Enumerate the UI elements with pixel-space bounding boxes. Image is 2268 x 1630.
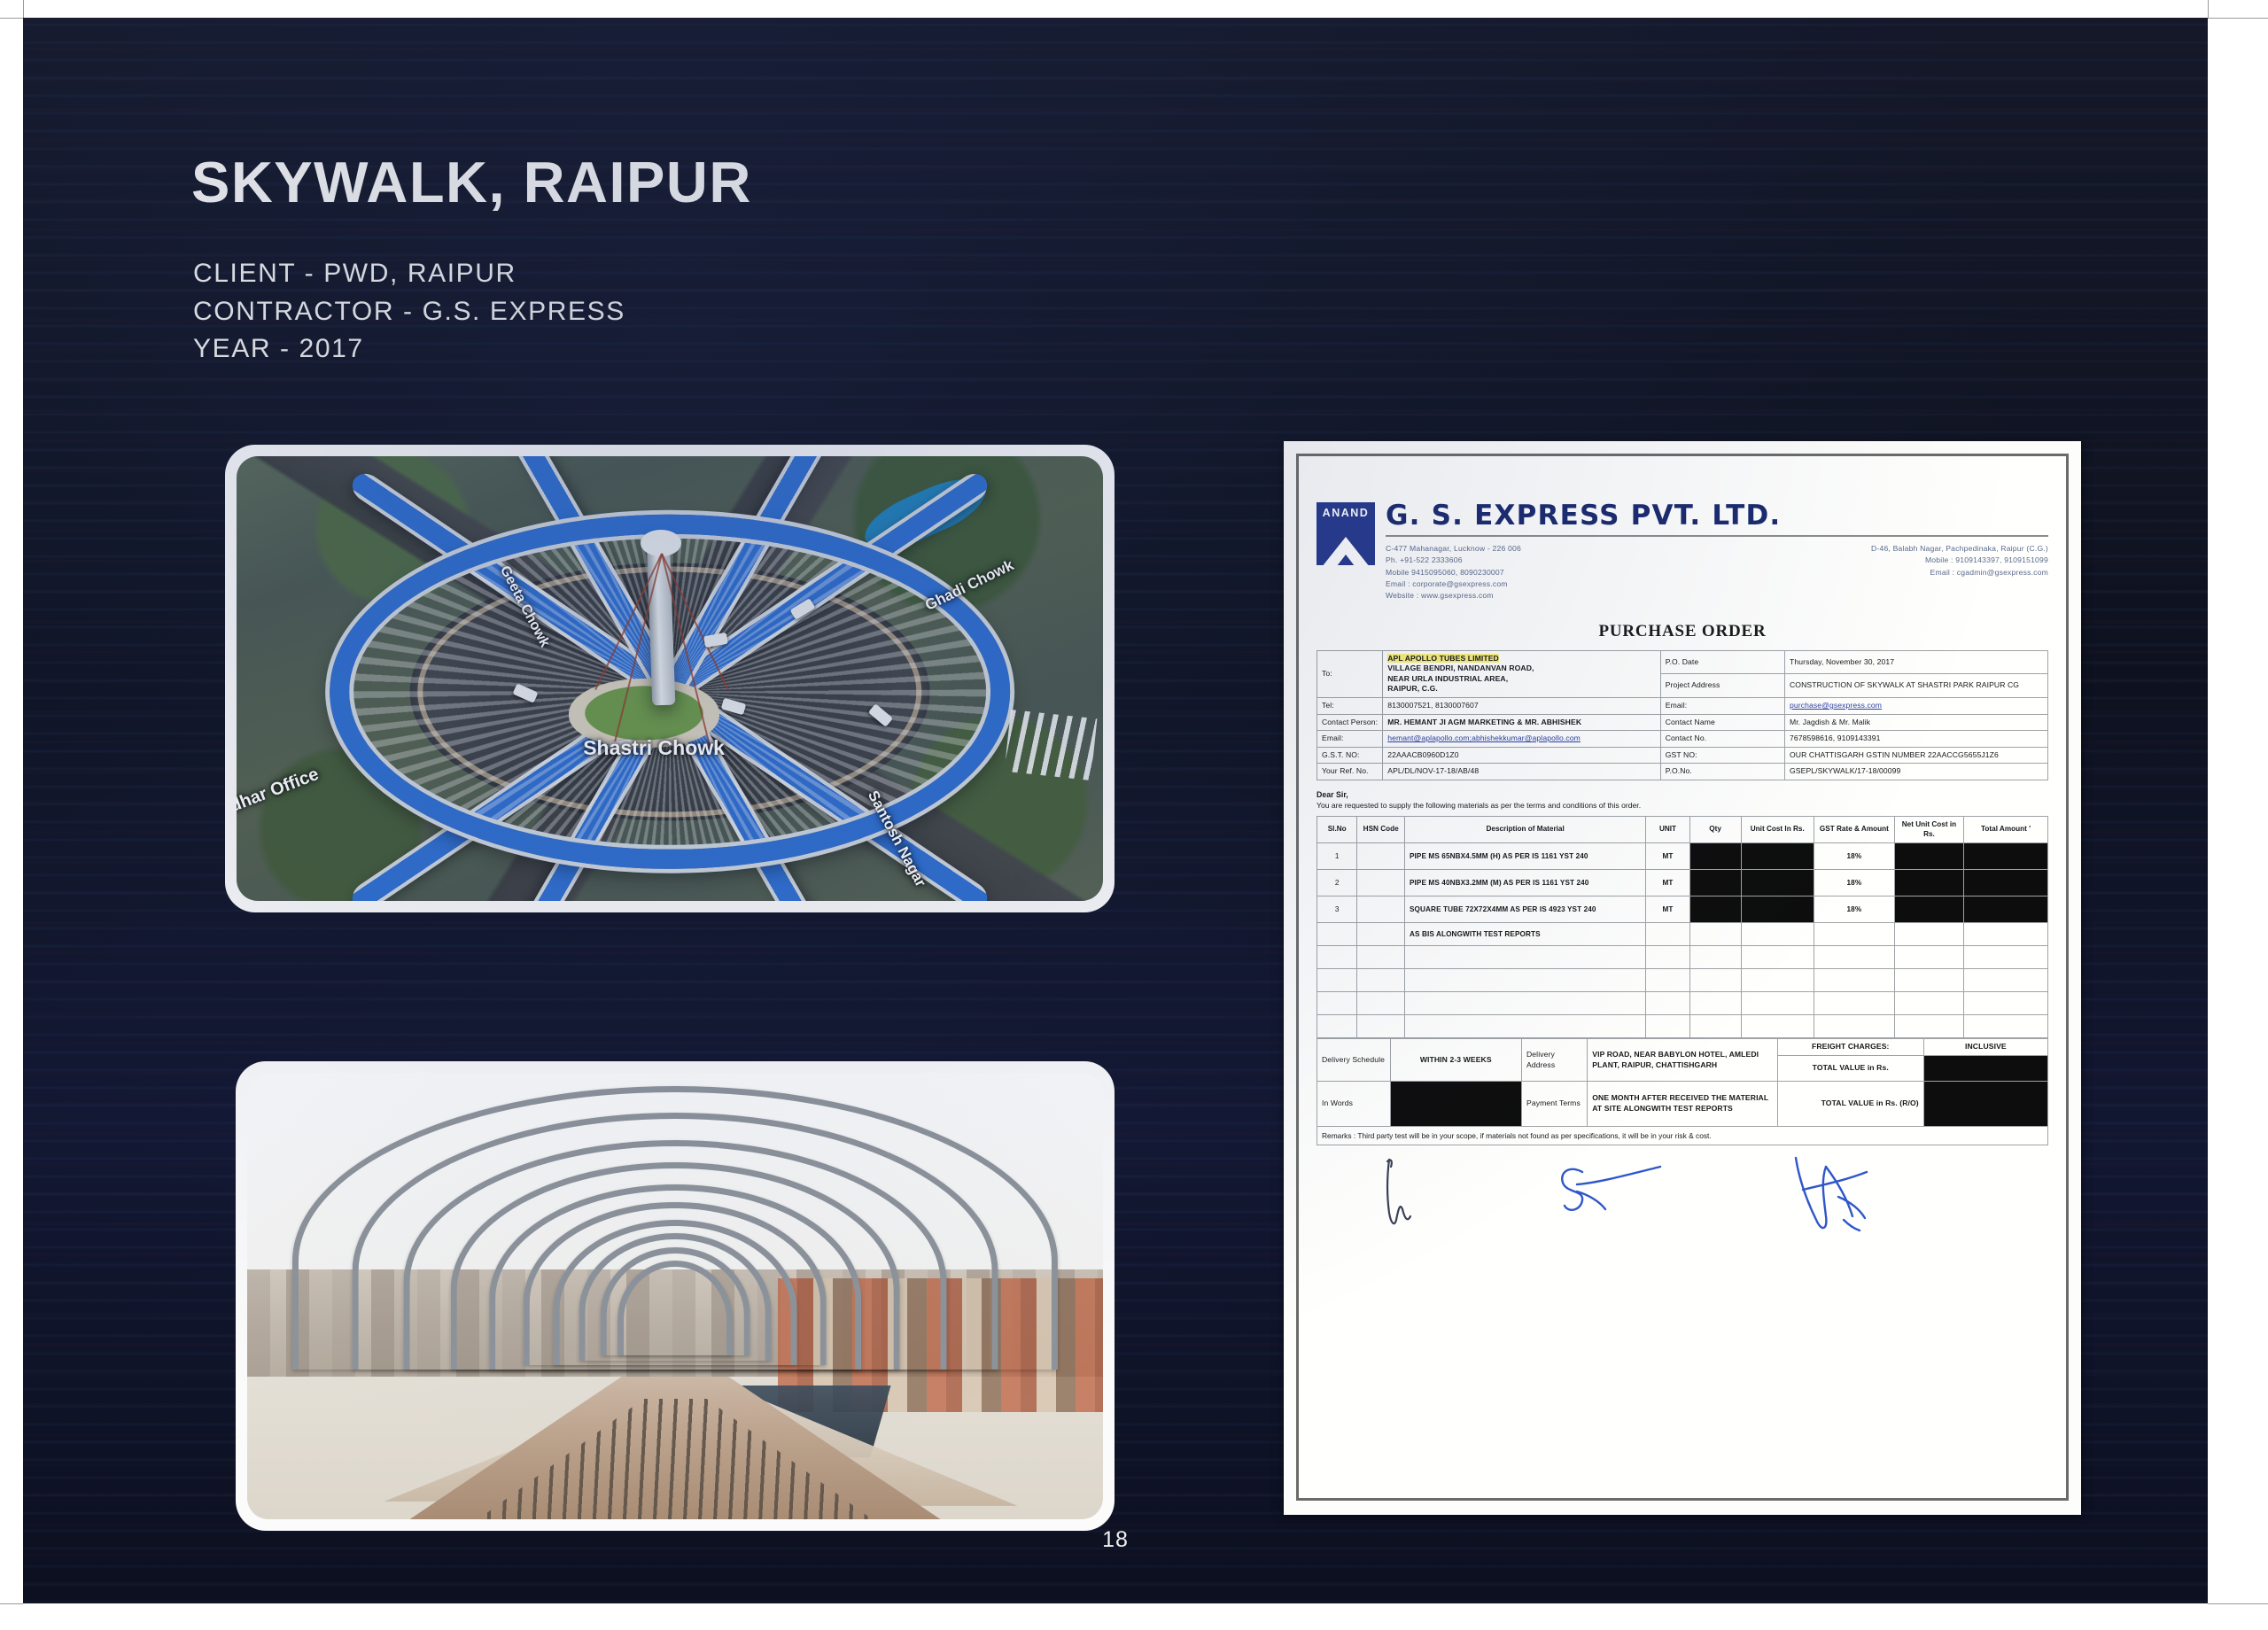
cell-empty xyxy=(1405,969,1646,992)
info-value-contact-person: MR. HEMANT JI AGM MARKETING & MR. ABHISH… xyxy=(1383,714,1661,731)
meta-client: CLIENT - PWD, RAIPUR xyxy=(193,255,625,293)
cell-empty xyxy=(1317,1015,1357,1038)
signature-1 xyxy=(1375,1154,1437,1230)
table-row: 2 PIPE MS 40NBX3.2MM (M) AS PER IS 1161 … xyxy=(1317,870,2048,896)
po-terms-table: Delivery Schedule WITHIN 2-3 WEEKS Deliv… xyxy=(1317,1038,2048,1127)
cell-unit-cost-redacted xyxy=(1741,843,1814,870)
cell-empty xyxy=(1689,946,1741,969)
address-line: Website : www.gsexpress.com xyxy=(1386,590,1521,602)
anand-chevron-icon xyxy=(1317,523,1375,565)
crop-mark-bottom-left-h xyxy=(0,1603,23,1604)
photo-aerial-render: Shastri Chowk dhar Office Ghadi Chowk Sa… xyxy=(225,445,1115,912)
col-unit-cost: Unit Cost In Rs. xyxy=(1741,816,1814,842)
purchase-order-sheet: ANAND G. S. EXPRESS PVT. LTD. C-477 Maha… xyxy=(1296,454,2069,1501)
cell-empty xyxy=(1357,969,1405,992)
address-lucknow: C-477 Mahanagar, Lucknow - 226 006 Ph. +… xyxy=(1386,543,1521,602)
cell-empty xyxy=(1689,1015,1741,1038)
vendor-addr-1: VILLAGE BENDRI, NANDANVAN ROAD, xyxy=(1387,664,1534,672)
cell-unit-cost-redacted xyxy=(1741,896,1814,923)
value-total-value-ro-redacted xyxy=(1923,1081,2047,1126)
cell-sl: 3 xyxy=(1317,896,1357,923)
construction-image xyxy=(247,1073,1103,1519)
value-delivery-address: VIP ROAD, NEAR BABYLON HOTEL, AMLEDI PLA… xyxy=(1588,1039,1778,1082)
cell-net-unit-cost-redacted xyxy=(1894,870,1963,896)
info-label-contact-name: Contact Name xyxy=(1660,714,1784,731)
cell-empty xyxy=(1894,992,1963,1015)
label-delivery-schedule: Delivery Schedule xyxy=(1317,1039,1391,1082)
cell-empty xyxy=(1894,969,1963,992)
address-line: Email : corporate@gsexpress.com xyxy=(1386,578,1521,590)
document-title: PURCHASE ORDER xyxy=(1317,622,2048,641)
address-line: Email : cgadmin@gsexpress.com xyxy=(1871,567,2048,578)
cell-net-unit-cost-redacted xyxy=(1894,896,1963,923)
cell-hsn xyxy=(1357,843,1405,870)
info-value-po-no: GSEPL/SKYWALK/17-18/00099 xyxy=(1785,764,2048,780)
cell-empty xyxy=(1964,946,2048,969)
salutation: Dear Sir, xyxy=(1317,790,2048,799)
cell-description: PIPE MS 65NBX4.5MM (H) AS PER IS 1161 YS… xyxy=(1405,843,1646,870)
info-value-po-date: Thursday, November 30, 2017 xyxy=(1785,650,2048,674)
label-freight-charges: FREIGHT CHARGES: xyxy=(1777,1039,1923,1056)
info-label-contact-no: Contact No. xyxy=(1660,731,1784,748)
cell-empty xyxy=(1964,1015,2048,1038)
cell-empty xyxy=(1741,969,1814,992)
purchase-order-document[interactable]: ANAND G. S. EXPRESS PVT. LTD. C-477 Maha… xyxy=(1284,441,2081,1515)
info-label-email: Email: xyxy=(1317,731,1383,748)
info-value-tel: 8130007521, 8130007607 xyxy=(1383,697,1661,714)
info-value-to: APL APOLLO TUBES LIMITED VILLAGE BENDRI,… xyxy=(1383,650,1661,697)
cell-net-unit-cost-redacted xyxy=(1894,843,1963,870)
cell-gst: 18% xyxy=(1814,843,1895,870)
anand-logo: ANAND xyxy=(1317,502,1375,565)
info-label-po-no: P.O.No. xyxy=(1660,764,1784,780)
cell-empty xyxy=(1741,1015,1814,1038)
cell-empty xyxy=(1964,992,2048,1015)
cell-empty xyxy=(1894,1015,1963,1038)
table-row: In Words Payment Terms ONE MONTH AFTER R… xyxy=(1317,1081,2048,1126)
purchase-order-content: ANAND G. S. EXPRESS PVT. LTD. C-477 Maha… xyxy=(1299,456,2066,1498)
email-link[interactable]: purchase@gsexpress.com xyxy=(1790,701,1882,710)
label-in-words: In Words xyxy=(1317,1081,1391,1126)
crop-mark-top-right-h xyxy=(2208,18,2268,19)
cell-empty xyxy=(1405,946,1646,969)
cell-qty-redacted xyxy=(1689,870,1741,896)
address-line: C-477 Mahanagar, Lucknow - 226 006 xyxy=(1386,543,1521,555)
anand-logo-text: ANAND xyxy=(1317,502,1375,523)
cell-empty xyxy=(1405,992,1646,1015)
company-name: G. S. EXPRESS PVT. LTD. xyxy=(1386,502,2048,530)
cell-empty xyxy=(1814,1015,1895,1038)
letterhead-divider xyxy=(1386,535,2048,537)
address-line: D-46, Balabh Nagar, Pachpedinaka, Raipur… xyxy=(1871,543,2048,555)
table-row: Your Ref. No. APL/DL/NOV-17-18/AB/48 P.O… xyxy=(1317,764,2048,780)
value-total-value-redacted xyxy=(1923,1055,2047,1081)
table-row xyxy=(1317,992,2048,1015)
address-raipur: D-46, Balabh Nagar, Pachpedinaka, Raipur… xyxy=(1871,543,2048,602)
vendor-name: APL APOLLO TUBES LIMITED xyxy=(1387,654,1499,663)
cell-unit-cost xyxy=(1741,923,1814,946)
address-line: Ph. +91-522 2333606 xyxy=(1386,555,1521,566)
cell-description: SQUARE TUBE 72X72X4MM AS PER IS 4923 YST… xyxy=(1405,896,1646,923)
cell-hsn xyxy=(1357,870,1405,896)
info-value-project-address: CONSTRUCTION OF SKYWALK AT SHASTRI PARK … xyxy=(1785,674,2048,698)
signature-3 xyxy=(1785,1151,1891,1239)
cell-total-redacted xyxy=(1964,870,2048,896)
cell-unit-cost-redacted xyxy=(1741,870,1814,896)
cell-empty xyxy=(1357,1015,1405,1038)
cell-sl: 2 xyxy=(1317,870,1357,896)
col-net-unit-cost: Net Unit Cost in Rs. xyxy=(1894,816,1963,842)
po-remarks: Remarks : Third party test will be in yo… xyxy=(1317,1127,2048,1145)
label-total-value-ro: TOTAL VALUE in Rs. (R/O) xyxy=(1777,1081,1923,1126)
cell-unit: MT xyxy=(1646,870,1690,896)
info-label-to: To: xyxy=(1317,650,1383,697)
cell-empty xyxy=(1405,1015,1646,1038)
cell-qty-redacted xyxy=(1689,843,1741,870)
meta-year: YEAR - 2017 xyxy=(193,330,625,369)
photo-construction-site xyxy=(236,1061,1115,1531)
slide-page: SKYWALK, RAIPUR CLIENT - PWD, RAIPUR CON… xyxy=(23,18,2208,1603)
page-number: 18 xyxy=(23,1527,2208,1553)
cell-sl: 1 xyxy=(1317,843,1357,870)
cell-empty xyxy=(1814,946,1895,969)
po-items-table: Sl.No HSN Code Description of Material U… xyxy=(1317,816,2048,1038)
cell-gst xyxy=(1814,923,1895,946)
table-row: Contact Person: MR. HEMANT JI AGM MARKET… xyxy=(1317,714,2048,731)
cell-empty xyxy=(1646,946,1690,969)
cell-empty xyxy=(1689,992,1741,1015)
cell-net-unit-cost xyxy=(1894,923,1963,946)
table-row xyxy=(1317,946,2048,969)
cell-empty xyxy=(1689,969,1741,992)
table-row: 3 SQUARE TUBE 72X72X4MM AS PER IS 4923 Y… xyxy=(1317,896,2048,923)
info-value-contact-name: Mr. Jagdish & Mr. Malik xyxy=(1785,714,2048,731)
col-description: Description of Material xyxy=(1405,816,1646,842)
value-delivery-schedule: WITHIN 2-3 WEEKS xyxy=(1390,1039,1522,1082)
info-value-email-right: purchase@gsexpress.com xyxy=(1785,697,2048,714)
print-sheet: SKYWALK, RAIPUR CLIENT - PWD, RAIPUR CON… xyxy=(0,0,2268,1630)
value-freight-charges: INCLUSIVE xyxy=(1923,1039,2047,1056)
col-sl-no: Sl.No xyxy=(1317,816,1357,842)
cell-empty xyxy=(1741,992,1814,1015)
vendor-addr-2: NEAR URLA INDUSTRIAL AREA, xyxy=(1387,674,1508,683)
info-value-email: hemant@aplapollo.com;abhishekkumar@aplap… xyxy=(1383,731,1661,748)
cell-empty xyxy=(1646,1015,1690,1038)
po-info-table: To: APL APOLLO TUBES LIMITED VILLAGE BEN… xyxy=(1317,650,2048,780)
cell-total xyxy=(1964,923,2048,946)
table-row: AS BIS ALONGWITH TEST REPORTS xyxy=(1317,923,2048,946)
crop-mark-top-right-v xyxy=(2208,0,2209,18)
cell-unit xyxy=(1646,923,1690,946)
project-meta-block: CLIENT - PWD, RAIPUR CONTRACTOR - G.S. E… xyxy=(193,255,625,369)
info-label-tel: Tel: xyxy=(1317,697,1383,714)
table-row: Delivery Schedule WITHIN 2-3 WEEKS Deliv… xyxy=(1317,1039,2048,1056)
signature-2 xyxy=(1550,1158,1683,1227)
table-row: Email: hemant@aplapollo.com;abhishekkuma… xyxy=(1317,731,2048,748)
cell-empty xyxy=(1317,992,1357,1015)
cell-total-redacted xyxy=(1964,843,2048,870)
cell-unit: MT xyxy=(1646,896,1690,923)
address-line: Mobile : 9109143397, 9109151099 xyxy=(1871,555,2048,566)
cell-empty xyxy=(1646,969,1690,992)
table-row: To: APL APOLLO TUBES LIMITED VILLAGE BEN… xyxy=(1317,650,2048,674)
crop-mark-top-left-v xyxy=(23,0,24,18)
cell-empty xyxy=(1741,946,1814,969)
cell-empty xyxy=(1317,969,1357,992)
value-payment-terms: ONE MONTH AFTER RECEIVED THE MATERIAL AT… xyxy=(1588,1081,1778,1126)
cell-description: PIPE MS 40NBX3.2MM (M) AS PER IS 1161 YS… xyxy=(1405,870,1646,896)
info-value-contact-no: 7678598616, 9109143391 xyxy=(1785,731,2048,748)
label-payment-terms: Payment Terms xyxy=(1522,1081,1588,1126)
col-hsn-code: HSN Code xyxy=(1357,816,1405,842)
aerial-label-shastri-chowk: Shastri Chowk xyxy=(583,736,725,760)
info-label-po-date: P.O. Date xyxy=(1660,650,1784,674)
col-gst-rate: GST Rate & Amount xyxy=(1814,816,1895,842)
col-unit: UNIT xyxy=(1646,816,1690,842)
table-row: Tel: 8130007521, 8130007607 Email: purch… xyxy=(1317,697,2048,714)
cell-total-redacted xyxy=(1964,896,2048,923)
intro-text: You are requested to supply the followin… xyxy=(1317,801,2048,810)
info-label-your-ref: Your Ref. No. xyxy=(1317,764,1383,780)
letterhead-body: G. S. EXPRESS PVT. LTD. C-477 Mahanagar,… xyxy=(1386,502,2048,602)
info-label-contact-person: Contact Person: xyxy=(1317,714,1383,731)
vendor-addr-3: RAIPUR, C.G. xyxy=(1387,684,1438,693)
cell-hsn xyxy=(1357,896,1405,923)
cell-sl xyxy=(1317,923,1357,946)
page-title: SKYWALK, RAIPUR xyxy=(191,149,752,215)
cell-qty-redacted xyxy=(1689,896,1741,923)
table-row xyxy=(1317,1015,2048,1038)
letterhead: ANAND G. S. EXPRESS PVT. LTD. C-477 Maha… xyxy=(1317,472,2048,602)
letterhead-addresses: C-477 Mahanagar, Lucknow - 226 006 Ph. +… xyxy=(1386,543,2048,602)
cell-empty xyxy=(1894,946,1963,969)
address-line: Mobile 9415095060, 8090230007 xyxy=(1386,567,1521,578)
crop-mark-top-left-h xyxy=(0,18,23,19)
cell-empty xyxy=(1964,969,2048,992)
info-label-project-address: Project Address xyxy=(1660,674,1784,698)
label-delivery-address: Delivery Address xyxy=(1522,1039,1588,1082)
table-row: G.S.T. NO: 22AAACB0960D1Z0 GST NO: OUR C… xyxy=(1317,747,2048,764)
cell-empty xyxy=(1317,946,1357,969)
aerial-crosswalk xyxy=(1005,710,1098,780)
table-header-row: Sl.No HSN Code Description of Material U… xyxy=(1317,816,2048,842)
crop-mark-bottom-right-h xyxy=(2208,1603,2268,1604)
cell-empty xyxy=(1814,969,1895,992)
info-label-gst: G.S.T. NO: xyxy=(1317,747,1383,764)
signature-area xyxy=(1317,1151,2048,1257)
col-qty: Qty xyxy=(1689,816,1741,842)
cell-description: AS BIS ALONGWITH TEST REPORTS xyxy=(1405,923,1646,946)
email-link[interactable]: hemant@aplapollo.com;abhishekkumar@aplap… xyxy=(1387,733,1581,742)
table-row xyxy=(1317,969,2048,992)
aerial-image: Shastri Chowk dhar Office Ghadi Chowk Sa… xyxy=(237,456,1103,901)
cell-empty xyxy=(1357,992,1405,1015)
info-label-gst-right: GST NO: xyxy=(1660,747,1784,764)
info-value-your-ref: APL/DL/NOV-17-18/AB/48 xyxy=(1383,764,1661,780)
info-label-email-right: Email: xyxy=(1660,697,1784,714)
cell-gst: 18% xyxy=(1814,870,1895,896)
table-row: 1 PIPE MS 65NBX4.5MM (H) AS PER IS 1161 … xyxy=(1317,843,2048,870)
col-total-amount: Total Amount ' xyxy=(1964,816,2048,842)
info-value-gst-right: OUR CHATTISGARH GSTIN NUMBER 22AACCG5655… xyxy=(1785,747,2048,764)
cell-empty xyxy=(1814,992,1895,1015)
cell-gst: 18% xyxy=(1814,896,1895,923)
value-in-words-redacted xyxy=(1390,1081,1522,1126)
aerial-tower-cap xyxy=(641,530,681,556)
cell-unit: MT xyxy=(1646,843,1690,870)
meta-contractor: CONTRACTOR - G.S. EXPRESS xyxy=(193,293,625,331)
cell-qty xyxy=(1689,923,1741,946)
cell-empty xyxy=(1646,992,1690,1015)
cell-empty xyxy=(1357,946,1405,969)
info-value-gst: 22AAACB0960D1Z0 xyxy=(1383,747,1661,764)
cell-hsn xyxy=(1357,923,1405,946)
label-total-value: TOTAL VALUE in Rs. xyxy=(1777,1055,1923,1081)
